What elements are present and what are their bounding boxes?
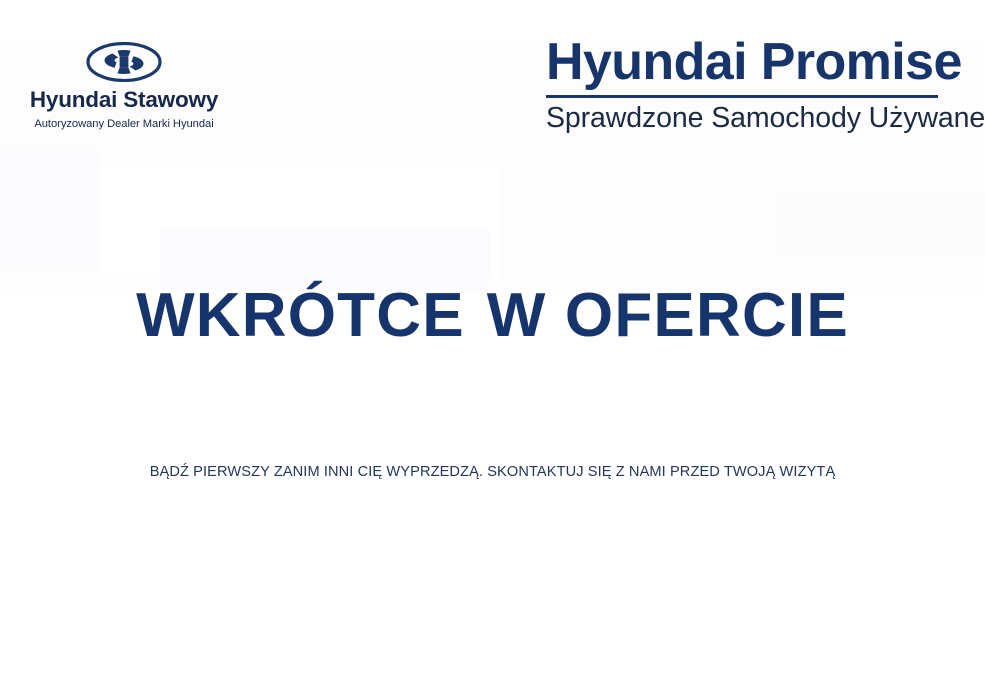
headline-word-1: WKRÓTCE — [136, 281, 465, 350]
promise-subtitle: Sprawdzone Samochody Używane — [546, 103, 938, 134]
promise-title: Hyundai Promise — [546, 36, 938, 89]
background-shape — [0, 150, 100, 270]
dealer-logo: Hyundai Stawowy Autoryzowany Dealer Mark… — [0, 42, 248, 130]
hyundai-h-ellipse-logo — [86, 42, 162, 82]
headline-word-2: W OFERCIE — [487, 281, 849, 350]
page-headline: WKRÓTCEW OFERCIE — [0, 283, 985, 348]
background-shape — [500, 140, 775, 230]
promise-divider — [546, 95, 938, 98]
dealer-tagline: Autoryzowany Dealer Marki Hyundai — [0, 118, 248, 130]
hyundai-promise-logo: Hyundai Promise Sprawdzone Samochody Uży… — [546, 36, 938, 134]
placeholder-banner: Hyundai Stawowy Autoryzowany Dealer Mark… — [0, 0, 985, 700]
background-shape — [775, 195, 985, 290]
background-shape — [100, 168, 500, 278]
dealer-name: Hyundai Stawowy — [0, 88, 248, 113]
cta-text: BĄDŹ PIERWSZY ZANIM INNI CIĘ WYPRZEDZĄ. … — [0, 464, 985, 482]
